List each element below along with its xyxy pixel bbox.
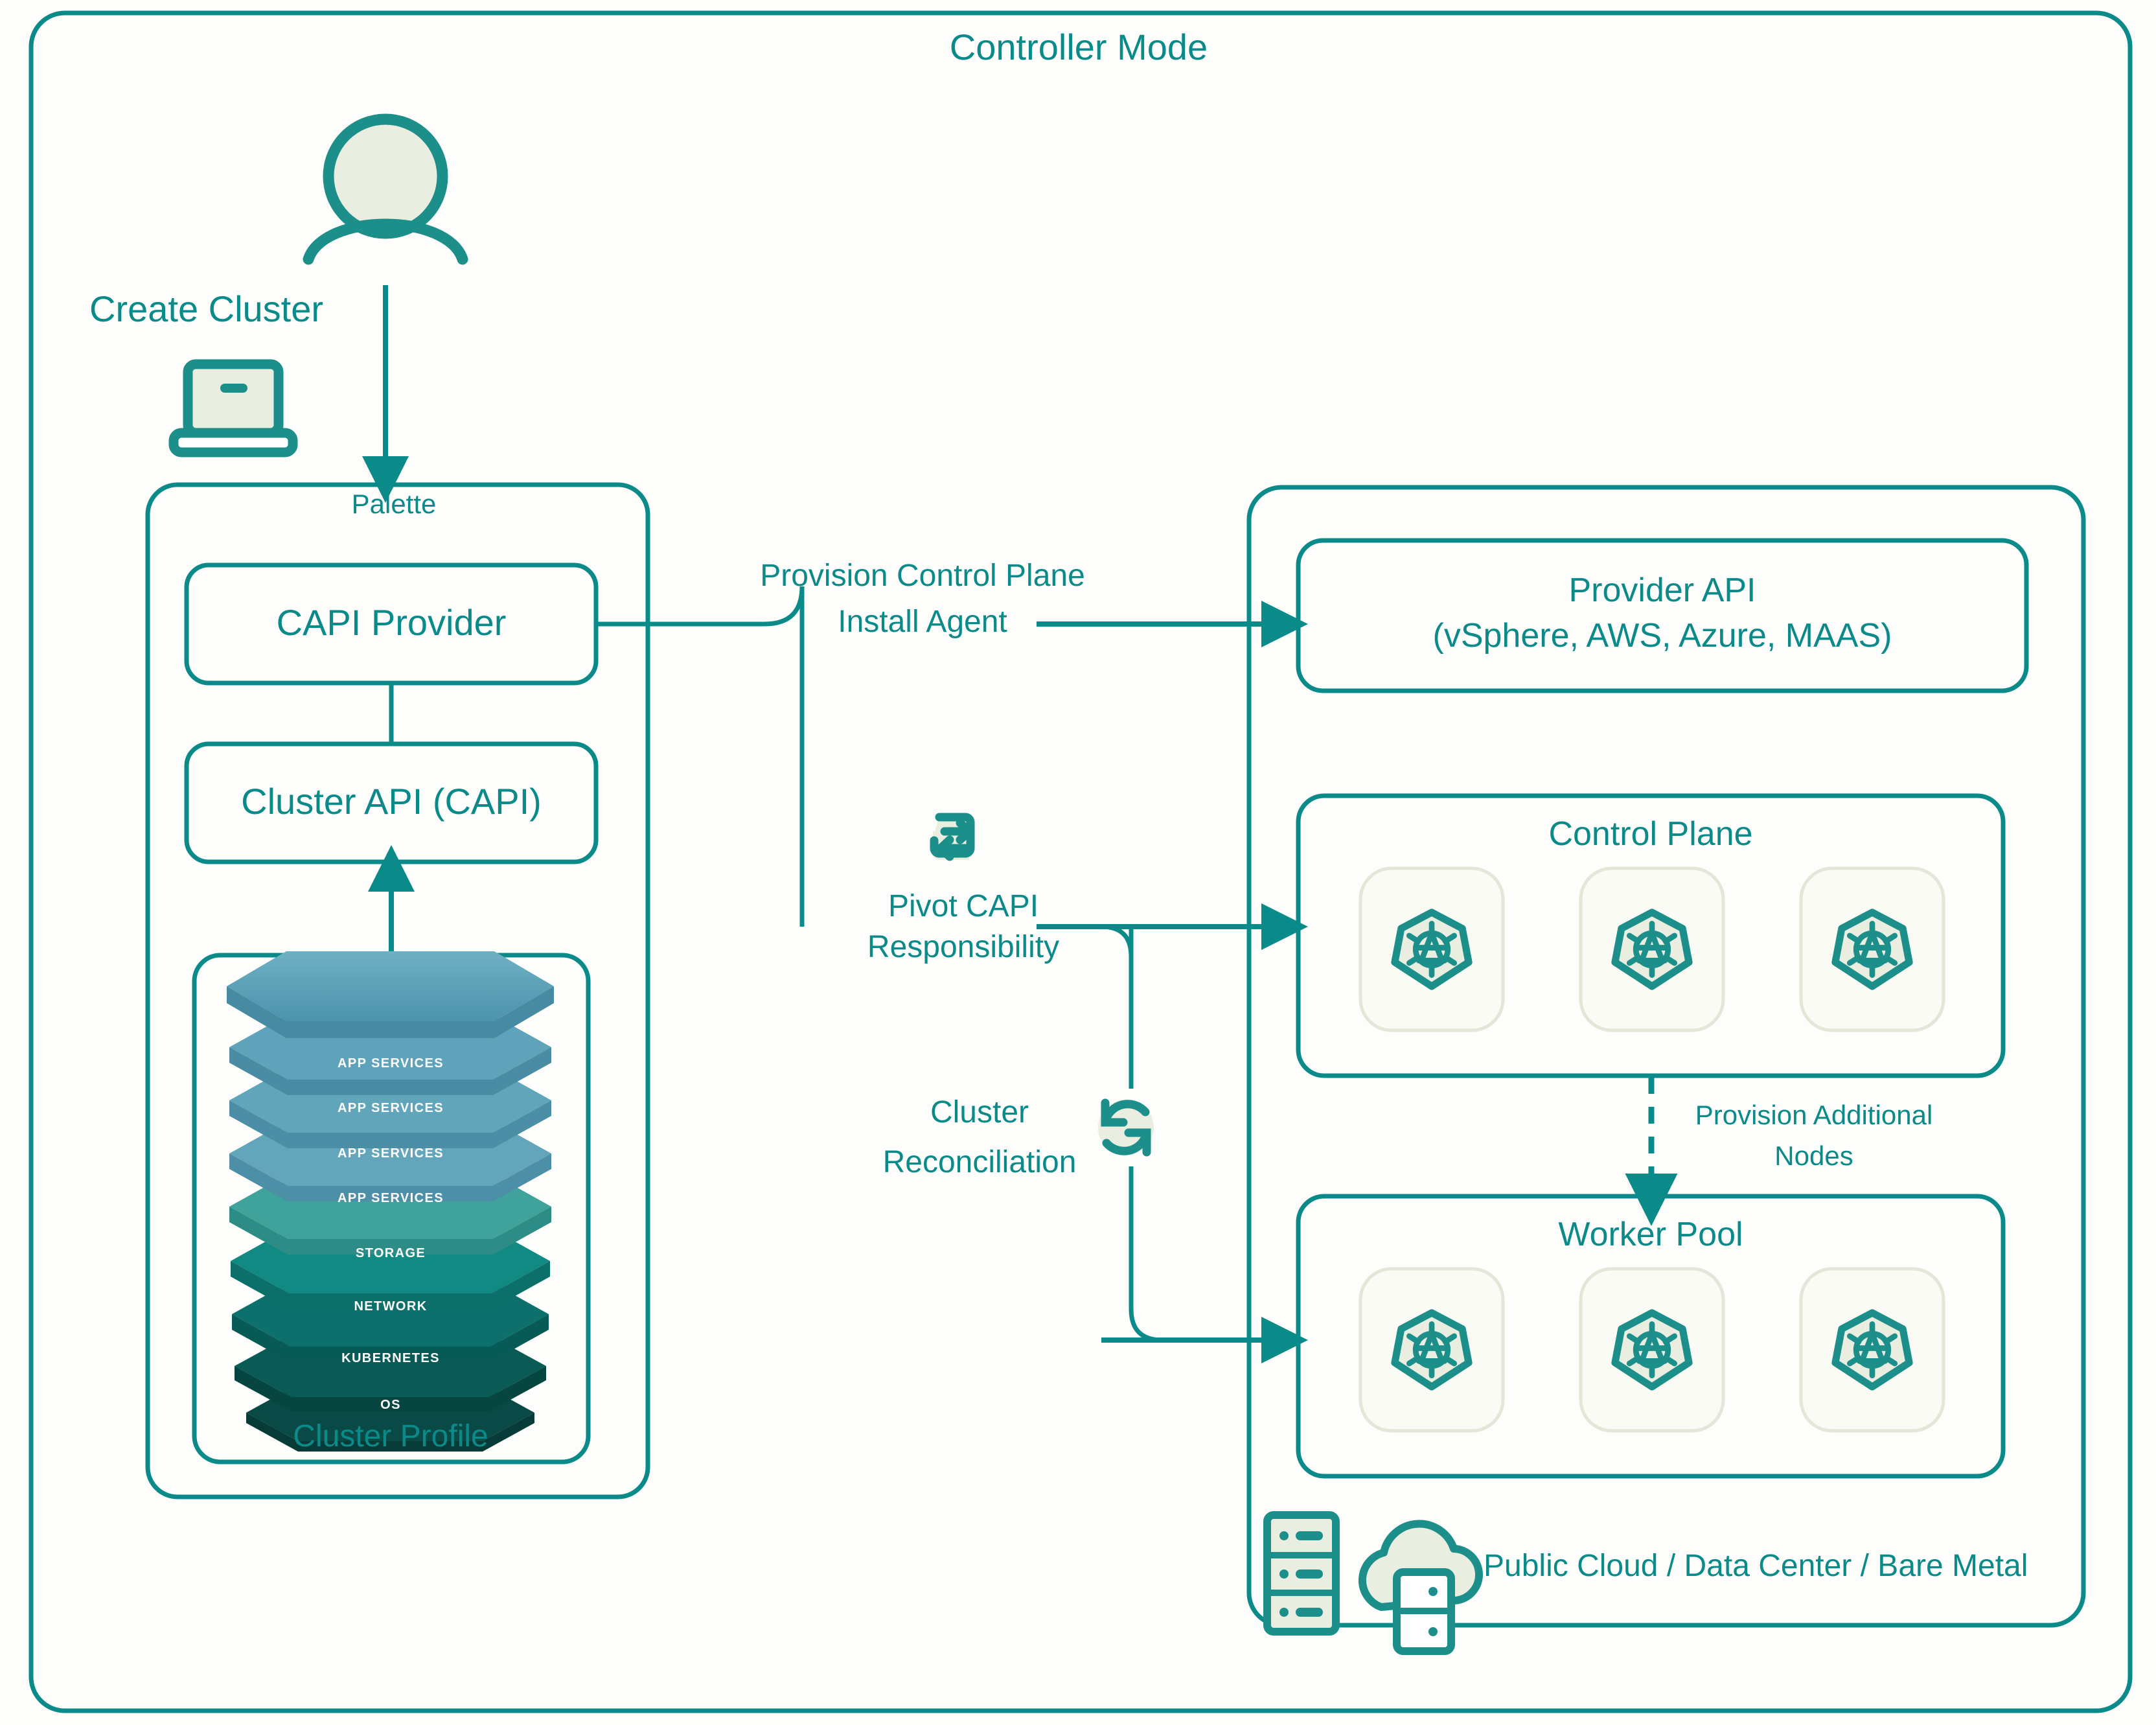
stack-label-app-services-2: APP SERVICES [338, 1101, 444, 1115]
server-rack-icon [1267, 1515, 1336, 1632]
palette-title: Palette [352, 489, 437, 519]
create-cluster-label: Create Cluster [89, 289, 323, 330]
worker-pool-title: Worker Pool [1558, 1216, 1743, 1253]
provision-additional-nodes-line1: Provision Additional [1695, 1100, 1933, 1130]
reconciliation-spine-lower [1131, 1166, 1267, 1340]
stack-label-kubernetes: KUBERNETES [341, 1351, 440, 1365]
cluster-api-label[interactable]: Cluster API (CAPI) [241, 781, 542, 822]
laptop-icon [174, 364, 293, 452]
cloud-server-icon [1362, 1524, 1479, 1651]
swap-exchange-icon [933, 815, 974, 860]
provider-api-box [1298, 540, 2026, 691]
infrastructure-panel [1249, 487, 2083, 1625]
capi-provider-label[interactable]: CAPI Provider [277, 603, 507, 643]
page-title: Controller Mode [950, 27, 1208, 68]
refresh-cycle-icon [1098, 1100, 1154, 1155]
provider-api-label-line1[interactable]: Provider API [1568, 572, 1756, 609]
reconciliation-corner-top [1101, 927, 1131, 956]
cluster-profile-caption: Cluster Profile [293, 1419, 488, 1454]
infrastructure-footer-label: Public Cloud / Data Center / Bare Metal [1484, 1549, 2028, 1584]
provision-control-plane-label: Provision Control Plane [760, 559, 1085, 594]
stack-label-app-services-1: APP SERVICES [338, 1056, 444, 1071]
provider-api-label-line2[interactable]: (vSphere, AWS, Azure, MAAS) [1433, 617, 1892, 654]
diagram-vector-layer [0, 0, 2156, 1725]
stack-label-network: NETWORK [354, 1299, 427, 1314]
control-plane-title: Control Plane [1548, 815, 1752, 853]
install-agent-label: Install Agent [838, 605, 1007, 640]
pivot-capi-label-line1: Pivot CAPI [888, 889, 1038, 924]
stack-label-app-services-3: APP SERVICES [338, 1146, 444, 1161]
provision-additional-nodes-line2: Nodes [1774, 1140, 1853, 1171]
stack-label-os: OS [380, 1398, 401, 1412]
diagram-canvas: Controller Mode Create Cluster Palette C… [0, 0, 2156, 1725]
stack-label-app-services-4: APP SERVICES [338, 1191, 444, 1205]
stack-layer-top [227, 951, 554, 1038]
user-icon [308, 119, 463, 259]
cluster-reconciliation-label-line2: Reconciliation [883, 1145, 1077, 1180]
pivot-capi-label-line2: Responsibility [867, 930, 1059, 965]
cluster-reconciliation-label-line1: Cluster [930, 1095, 1029, 1130]
stack-label-storage: STORAGE [356, 1246, 426, 1260]
